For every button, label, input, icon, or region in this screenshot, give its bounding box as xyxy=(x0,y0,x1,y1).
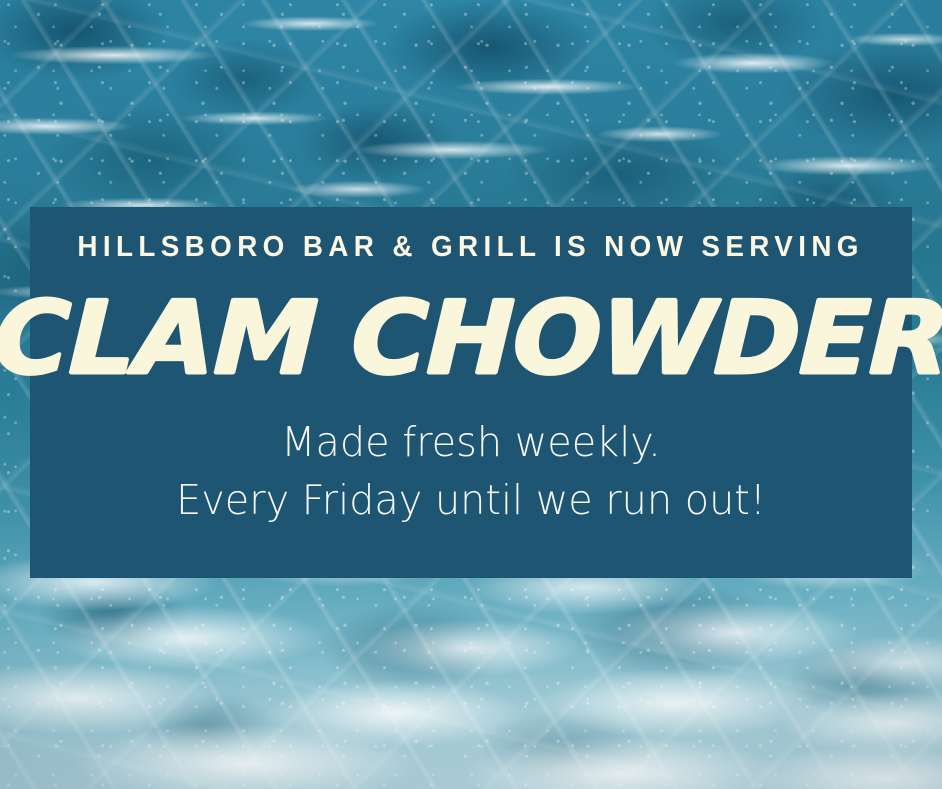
promo-poster: HILLSBORO BAR & GRILL IS NOW SERVING CLA… xyxy=(0,0,942,789)
page-title: CLAM CHOWDER xyxy=(0,290,942,387)
text-overlay-panel: HILLSBORO BAR & GRILL IS NOW SERVING CLA… xyxy=(30,207,912,578)
subtitle-line-1: Made fresh weekly. xyxy=(176,413,766,471)
eyebrow-text: HILLSBORO BAR & GRILL IS NOW SERVING xyxy=(78,233,864,262)
subtitle-line-2: Every Friday until we run out! xyxy=(176,471,766,529)
subtitle-block: Made fresh weekly. Every Friday until we… xyxy=(167,413,775,529)
